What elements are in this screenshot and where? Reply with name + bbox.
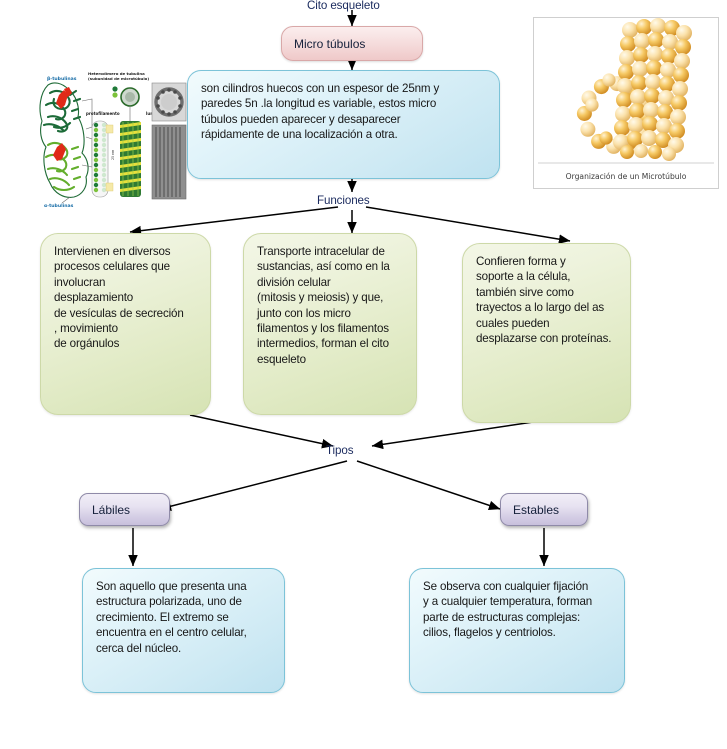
connector-label-funciones: Funciones xyxy=(317,194,370,207)
function-2-line-7: intermedios, forman el cito xyxy=(257,336,405,351)
function-1-line-7: de orgánulos xyxy=(54,336,199,351)
edge-funciones-to-left xyxy=(130,207,338,232)
function-3-line-1: Confieren forma y xyxy=(476,254,619,269)
node-estables-label: Estables xyxy=(513,504,559,516)
edge-left-to-tipos xyxy=(190,415,333,446)
labiles-detail-line-2: estructura polarizada, uno de xyxy=(96,594,273,609)
labiles-detail-line-4: encuentra en el centro celular, xyxy=(96,625,273,640)
connector-label-tipos: Tipos xyxy=(326,444,353,457)
function-3-line-4: trayectos a lo largo del as xyxy=(476,300,619,315)
svg-text:α-tubulinas: α-tubulinas xyxy=(44,203,74,209)
figure-microtubule-organization: Organización de un Microtúbulo xyxy=(533,17,719,189)
node-definition: son cilindros huecos con un espesor de 2… xyxy=(187,70,500,179)
node-labiles[interactable]: Lábiles xyxy=(79,493,170,526)
node-estables[interactable]: Estables xyxy=(500,493,588,526)
function-1-line-1: Intervienen en diversos xyxy=(54,244,199,259)
function-1-line-4: desplazamiento xyxy=(54,290,199,305)
node-labiles-label: Lábiles xyxy=(92,504,130,516)
node-micro-tubulos[interactable]: Micro túbulos xyxy=(281,26,423,61)
svg-text:25 nm: 25 nm xyxy=(111,150,115,160)
estables-detail-line-3: parte de estructuras complejas: xyxy=(423,610,613,625)
function-2-line-8: esqueleto xyxy=(257,352,405,367)
definition-line-3: túbulos pueden aparecer y desaparecer xyxy=(201,112,488,127)
diagram-title-label: Cito esqueleto xyxy=(307,0,380,12)
labiles-detail-line-1: Son aquello que presenta una xyxy=(96,579,273,594)
node-function-1: Intervienen en diversos procesos celular… xyxy=(40,233,211,415)
function-3-line-2: soporte a la célula, xyxy=(476,269,619,284)
function-2-line-4: (mitosis y meiosis) y que, xyxy=(257,290,405,305)
edge-tipos-to-estables xyxy=(357,461,500,509)
function-2-line-2: sustancias, así como en la xyxy=(257,259,405,274)
function-2-line-6: filamentos y los filamentos xyxy=(257,321,405,336)
microtubule-cylinder xyxy=(613,18,692,161)
svg-text:β-tubulinas: β-tubulinas xyxy=(47,76,77,82)
function-2-line-3: división celular xyxy=(257,275,405,290)
node-labiles-detail: Son aquello que presenta una estructura … xyxy=(82,568,285,693)
function-3-line-5: cuales pueden xyxy=(476,316,619,331)
definition-line-4: rápidamente de una localización a otra. xyxy=(201,127,488,142)
figure-tubulin-svg: β-tubulinas α-tubulinas Heterodímero de … xyxy=(30,65,188,210)
function-3-line-3: también sirve como xyxy=(476,285,619,300)
figure-tubulin-structure: β-tubulinas α-tubulinas Heterodímero de … xyxy=(30,65,188,210)
definition-line-1: son cilindros huecos con un espesor de 2… xyxy=(201,81,488,96)
function-3-line-6: desplazarse con proteínas. xyxy=(476,331,619,346)
svg-text:(subunidad de microtúbulo): (subunidad de microtúbulo) xyxy=(88,76,149,81)
node-micro-tubulos-label: Micro túbulos xyxy=(294,38,365,50)
svg-text:protofilamento: protofilamento xyxy=(86,111,120,116)
node-function-2: Transporte intracelular de sustancias, a… xyxy=(243,233,417,415)
estables-detail-line-2: y a cualquier temperatura, forman xyxy=(423,594,613,609)
labiles-detail-line-3: crecimiento. El extremo se xyxy=(96,610,273,625)
node-function-3: Confieren forma y soporte a la célula, t… xyxy=(462,243,631,423)
node-estables-detail: Se observa con cualquier fijación y a cu… xyxy=(409,568,625,693)
diagram-canvas: Cito esqueleto Micro túbulos son cilindr… xyxy=(0,0,727,749)
figure-microtubule-svg xyxy=(534,18,718,188)
function-1-line-6: , movimiento xyxy=(54,321,199,336)
estables-detail-line-4: cilios, flagelos y centriolos. xyxy=(423,625,613,640)
function-1-line-3: involucran xyxy=(54,275,199,290)
function-2-line-5: junto con los micro xyxy=(257,306,405,321)
figure-caption: Organización de un Microtúbulo xyxy=(534,172,718,181)
function-1-line-2: procesos celulares que xyxy=(54,259,199,274)
function-1-line-5: de vesículas de secreción xyxy=(54,306,199,321)
estables-detail-line-1: Se observa con cualquier fijación xyxy=(423,579,613,594)
edge-tipos-to-labiles xyxy=(160,461,347,509)
definition-line-2: paredes 5n .la longitud es variable, est… xyxy=(201,96,488,111)
function-2-line-1: Transporte intracelular de xyxy=(257,244,405,259)
labiles-detail-line-5: cerca del núcleo. xyxy=(96,641,273,656)
